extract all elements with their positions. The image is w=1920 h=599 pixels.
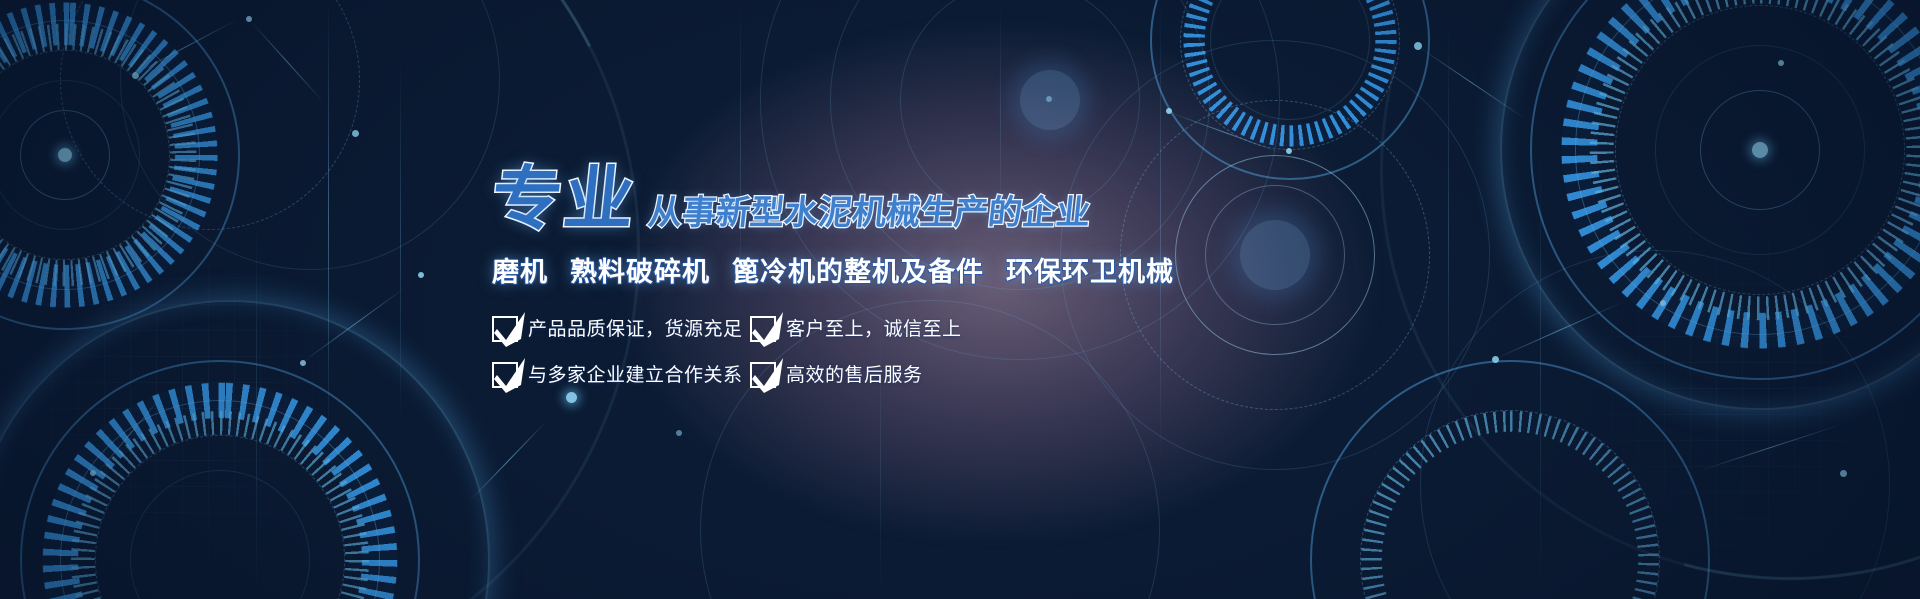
check-icon <box>750 362 776 388</box>
feature-item: 产品品质保证，货源充足 <box>492 316 750 342</box>
banner-headline: 专业 <box>488 164 639 234</box>
feature-label: 客户至上，诚信至上 <box>786 318 962 340</box>
check-icon <box>492 362 518 388</box>
feature-label: 高效的售后服务 <box>786 364 923 386</box>
tagline-part-1: 磨机 <box>492 257 548 288</box>
feature-item: 高效的售后服务 <box>750 362 1392 388</box>
feature-item: 与多家企业建立合作关系 <box>492 362 750 388</box>
feature-label: 与多家企业建立合作关系 <box>528 364 743 386</box>
check-icon <box>750 316 776 342</box>
banner-subheadline: 从事新型水泥机械生产的企业 <box>646 196 1092 234</box>
feature-item: 客户至上，诚信至上 <box>750 316 1392 342</box>
tagline-part-2: 熟料破碎机 <box>570 257 710 288</box>
tagline-part-4: 环保环卫机械 <box>1006 257 1174 288</box>
banner-content: 专业 从事新型水泥机械生产的企业 磨机熟料破碎机篦冷机的整机及备件环保环卫机械 … <box>492 162 1392 388</box>
check-icon <box>492 316 518 342</box>
tagline-part-3: 篦冷机的整机及备件 <box>732 257 984 288</box>
headline-row: 专业 从事新型水泥机械生产的企业 <box>492 162 1392 234</box>
feature-label: 产品品质保证，货源充足 <box>528 318 743 340</box>
feature-list: 产品品质保证，货源充足 客户至上，诚信至上 与多家企业建立合作关系 <box>492 316 1392 388</box>
hero-banner: 专业 从事新型水泥机械生产的企业 磨机熟料破碎机篦冷机的整机及备件环保环卫机械 … <box>0 0 1920 599</box>
banner-tagline: 磨机熟料破碎机篦冷机的整机及备件环保环卫机械 <box>492 258 1392 288</box>
